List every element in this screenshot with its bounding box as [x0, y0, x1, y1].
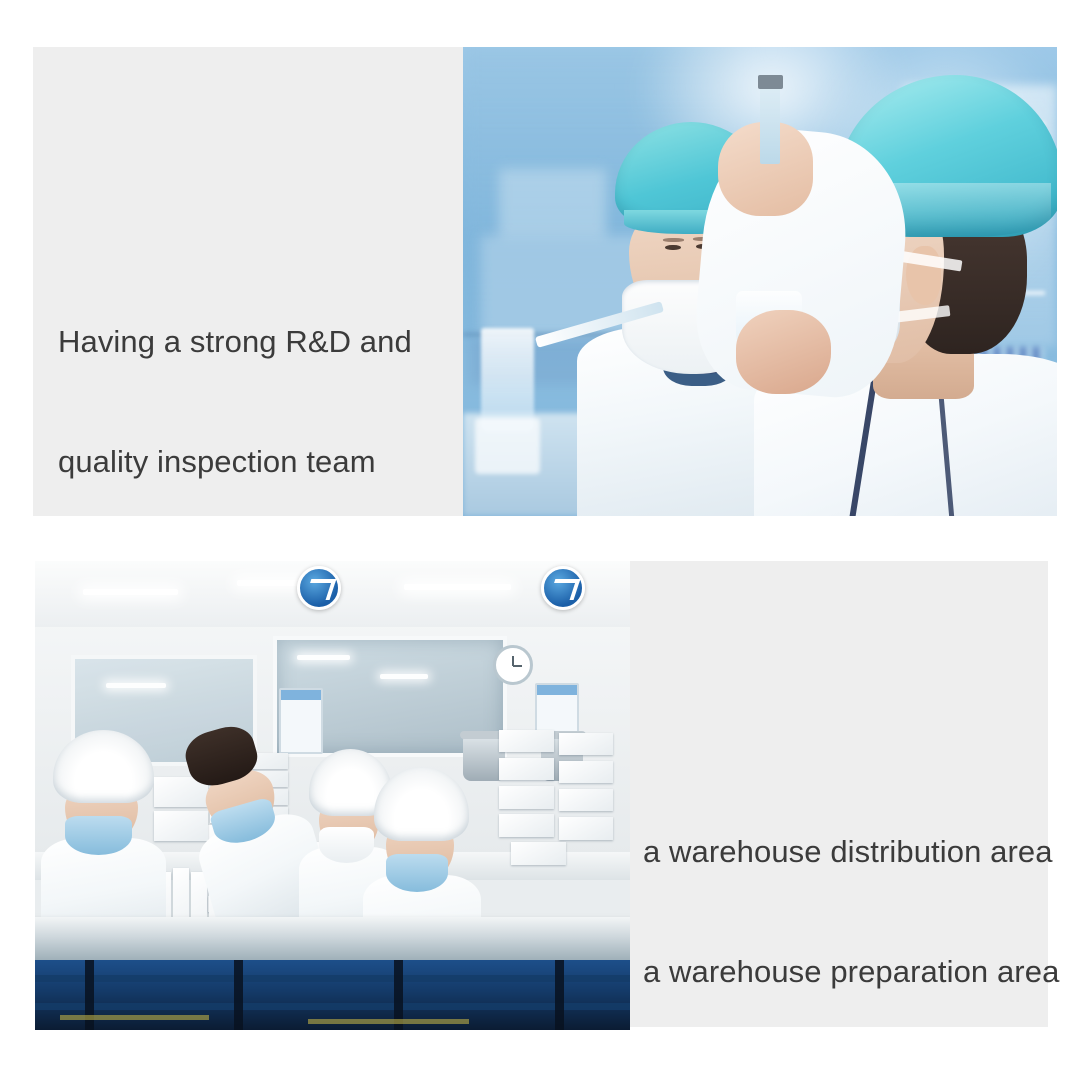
blue-circular-sign-right — [541, 566, 585, 610]
carton — [499, 730, 554, 753]
table-under-frame — [35, 960, 630, 1030]
ceiling-light — [404, 584, 511, 590]
carton-bulk-right — [499, 730, 618, 871]
frame-rail — [35, 975, 629, 982]
blue-circular-sign-left — [297, 566, 341, 610]
white-face-mask — [319, 827, 374, 862]
vial-cap — [758, 75, 783, 89]
hairnet — [374, 767, 469, 840]
frame-rail — [35, 1003, 629, 1010]
rnd-caption-line-2: quality inspection team — [58, 442, 412, 482]
table-leg — [555, 960, 564, 1030]
composite-image-canvas: Having a strong R&D and quality inspecti… — [0, 0, 1080, 1080]
rnd-caption-line-1: Having a strong R&D and — [58, 322, 412, 362]
ceiling-light — [83, 589, 178, 595]
interior-light — [380, 674, 428, 679]
warehouse-caption: a warehouse distribution area a warehous… — [643, 752, 1059, 1072]
warehouse-photo — [35, 561, 630, 1030]
warehouse-caption-line-2: a warehouse preparation area — [643, 952, 1059, 992]
table-leg — [234, 960, 243, 1030]
warehouse-scene-backdrop — [35, 561, 630, 1030]
wall-notice-board-left — [279, 688, 323, 754]
hand-lower — [736, 310, 831, 394]
interior-light — [106, 683, 166, 688]
carton — [499, 786, 554, 809]
blue-face-mask — [65, 816, 132, 855]
warehouse-worker-left — [53, 730, 154, 946]
carton — [499, 814, 554, 837]
carton — [559, 789, 614, 812]
hairnet — [53, 730, 154, 803]
eye — [665, 245, 680, 250]
laboratory-photo — [463, 47, 1057, 516]
lab-tray — [475, 418, 540, 474]
lab-beaker — [481, 328, 534, 431]
lab-scene-backdrop — [463, 47, 1057, 516]
stainless-work-table — [35, 917, 630, 959]
interior-light — [297, 655, 351, 660]
carton — [511, 842, 566, 865]
sample-vial — [760, 80, 780, 164]
carton — [559, 761, 614, 784]
carton — [559, 733, 614, 756]
eyebrow — [663, 238, 685, 242]
carton — [499, 758, 554, 781]
carton — [559, 817, 614, 840]
warehouse-caption-line-1: a warehouse distribution area — [643, 832, 1059, 872]
floor-marking — [308, 1019, 469, 1024]
floor-marking — [60, 1015, 209, 1020]
rnd-caption: Having a strong R&D and quality inspecti… — [58, 242, 412, 562]
